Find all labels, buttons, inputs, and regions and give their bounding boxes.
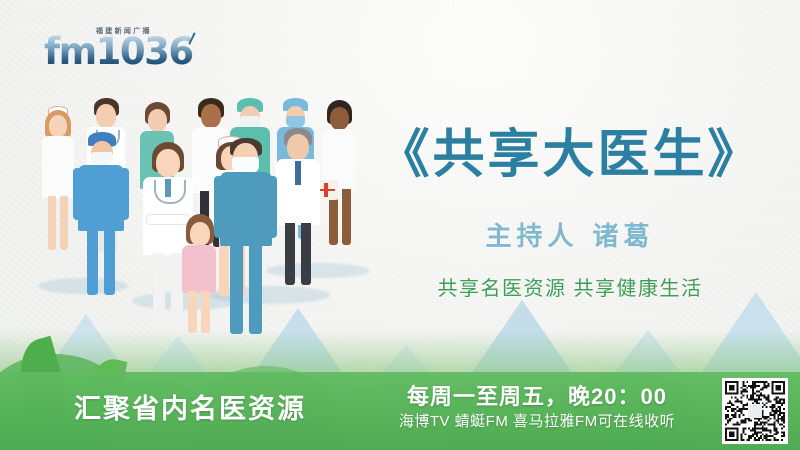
program-host: 主持人 诸葛: [400, 216, 740, 253]
head: [287, 134, 309, 160]
station-callsign: fm1036: [44, 33, 193, 70]
leg: [285, 223, 295, 285]
head: [49, 115, 67, 137]
leg: [48, 196, 56, 250]
arm: [120, 168, 129, 220]
staff-figure-receptionist: [174, 214, 224, 334]
head: [190, 222, 210, 246]
head: [201, 104, 221, 128]
surgical-mask-icon: [91, 152, 113, 165]
arm: [267, 176, 277, 238]
surgical-mask-icon: [232, 157, 259, 173]
leg: [60, 196, 68, 250]
head: [330, 107, 349, 130]
leg: [104, 229, 115, 295]
arm: [73, 168, 82, 220]
radio-program-poster: 福建新闻广播 fm1036: [0, 0, 800, 450]
staff-figure-senior-doctor: [270, 128, 326, 290]
head: [156, 149, 180, 177]
leg: [87, 229, 98, 295]
leg: [342, 189, 351, 245]
staff-figure-surgeon: [72, 132, 130, 300]
station-logo: 福建新闻广播 fm1036: [44, 26, 189, 72]
footer-platforms: 海博TV 蜻蜓FM 喜马拉雅FM可在线收听: [372, 410, 702, 431]
program-title: 《共享大医生》: [360, 112, 780, 187]
qr-code-image: [725, 381, 785, 441]
leg: [301, 223, 311, 285]
leg: [188, 291, 197, 333]
scrub-top: [78, 165, 124, 231]
leg: [249, 244, 262, 334]
leg: [230, 244, 243, 334]
footer-tagline: 汇聚省内名医资源: [74, 387, 306, 426]
necktie: [295, 161, 301, 185]
scrub-top: [220, 172, 272, 246]
blouse-body: [182, 245, 216, 293]
program-slogan: 共享名医资源 共享健康生活: [400, 272, 740, 301]
head: [96, 104, 116, 128]
leg: [153, 253, 165, 327]
head: [148, 109, 167, 132]
uniform-body: [42, 136, 74, 198]
footer-schedule: 每周一至周五，晚20：00: [372, 379, 702, 411]
medical-staff-group-illustration: [14, 70, 374, 330]
qr-code[interactable]: [722, 378, 788, 444]
necktie: [165, 179, 171, 197]
leg: [201, 291, 210, 333]
